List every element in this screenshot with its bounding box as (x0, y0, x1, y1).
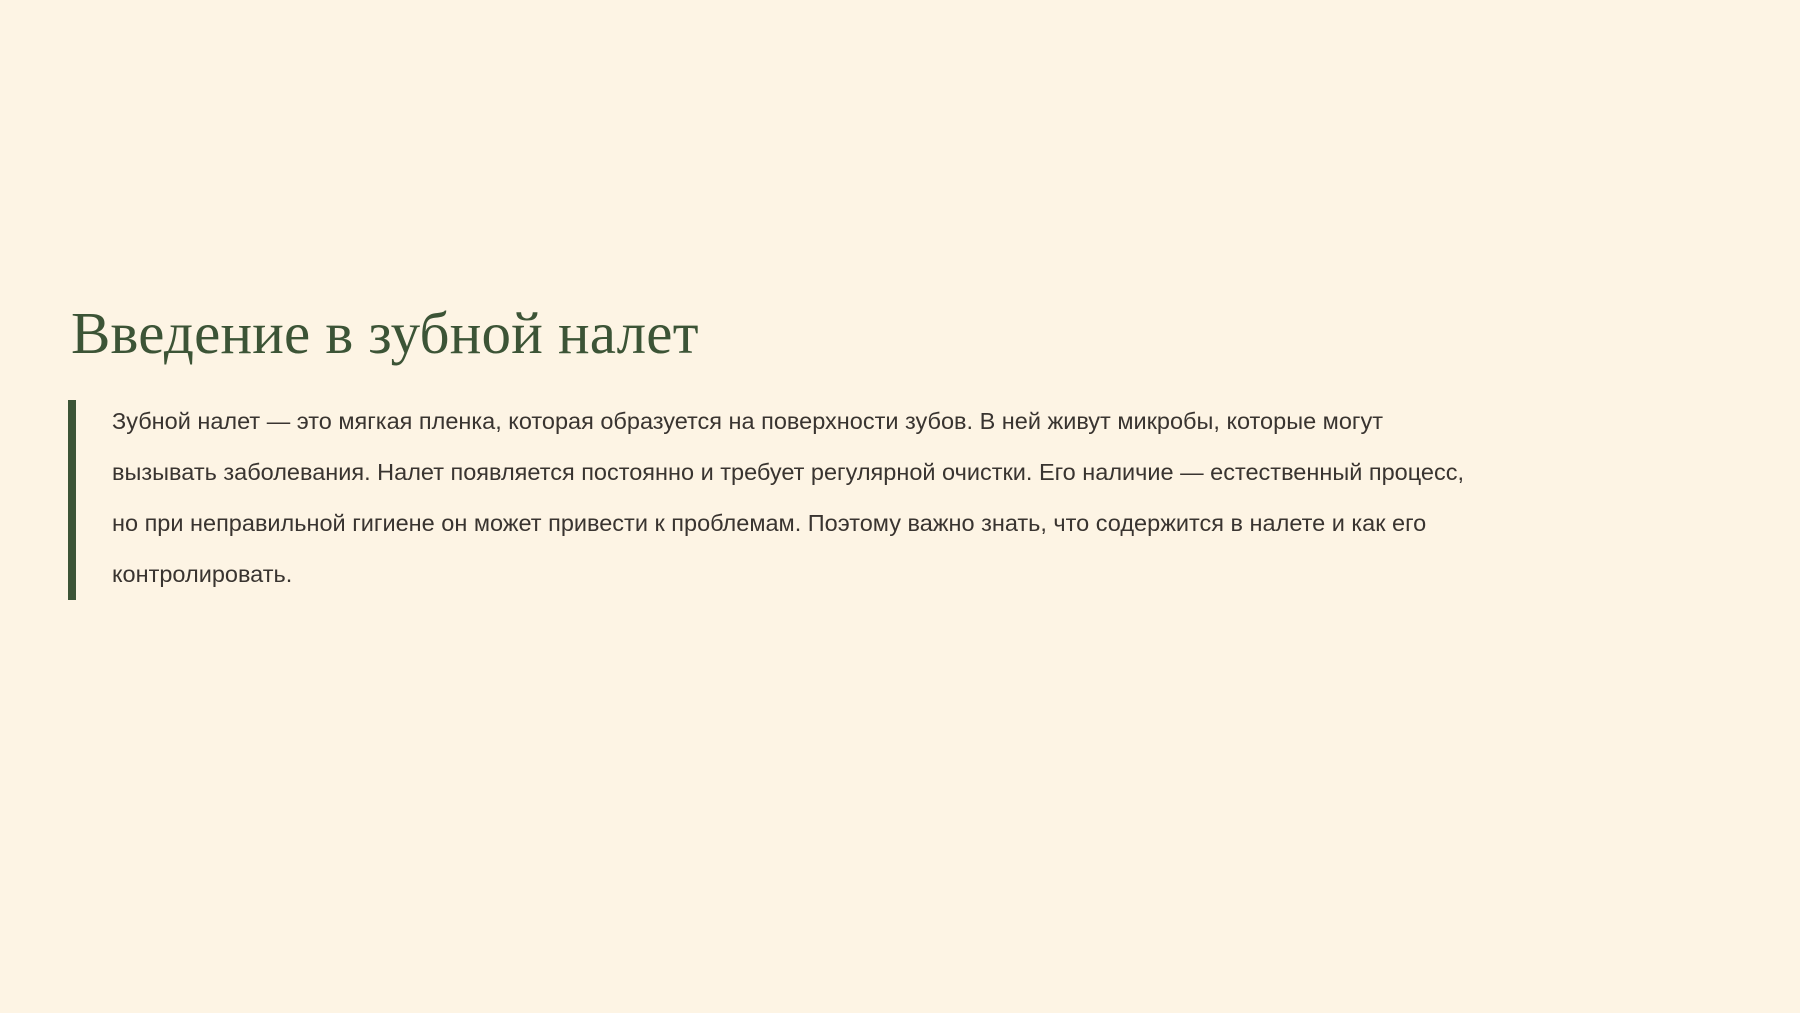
intro-paragraph: Зубной налет — это мягкая пленка, котора… (112, 396, 1484, 600)
content-block: Введение в зубной налет Зубной налет — э… (68, 300, 1508, 600)
page-title: Введение в зубной налет (71, 300, 1508, 368)
intro-section: Зубной налет — это мягкая пленка, котора… (68, 396, 1508, 600)
slide-canvas: Введение в зубной налет Зубной налет — э… (0, 0, 1800, 1013)
accent-bar (68, 400, 76, 600)
